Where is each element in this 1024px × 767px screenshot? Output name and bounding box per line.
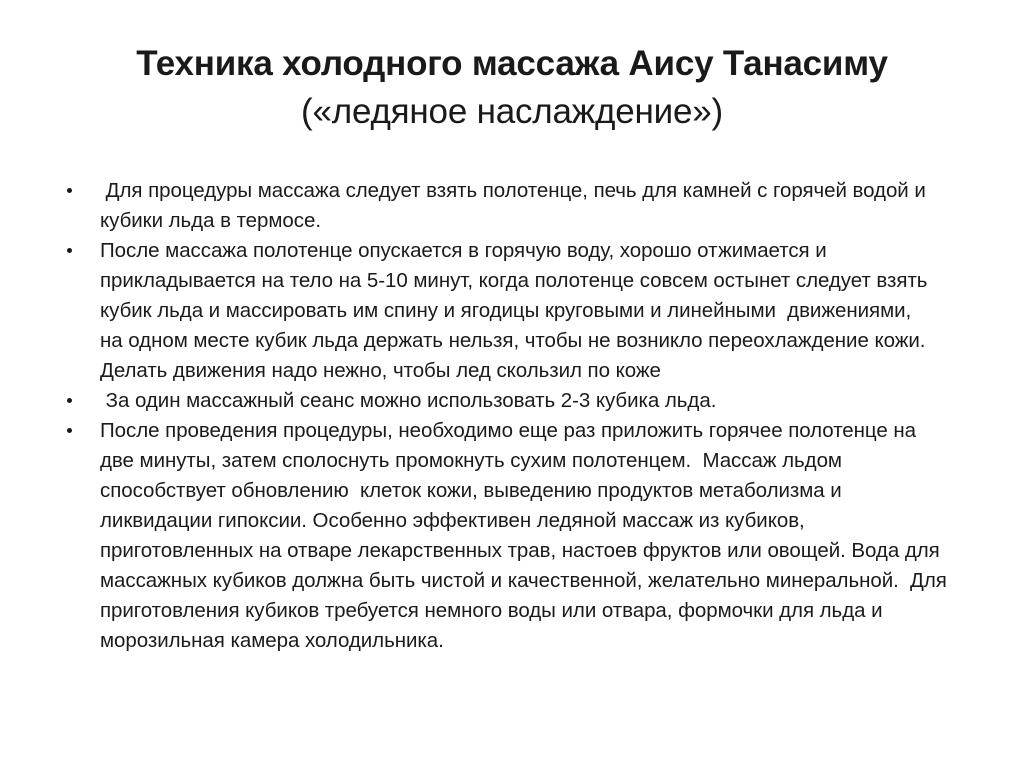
bullet-point-icon xyxy=(62,176,76,206)
bullet-text-line: После проведения процедуры, необходимо е… xyxy=(100,416,957,446)
title-line-2: («ледяное наслаждение») xyxy=(62,88,962,136)
bullet-text-line: кубик льда и массировать им спину и ягод… xyxy=(100,296,957,326)
bullet-point-icon xyxy=(62,386,76,416)
bullet-text-line: две минуты, затем сполоснуть промокнуть … xyxy=(100,446,957,476)
bullet-text-line: прикладывается на тело на 5-10 минут, ко… xyxy=(100,266,957,296)
bullet-text-line: За один массажный сеанс можно использова… xyxy=(100,386,957,416)
bullet-list: Для процедуры массажа следует взять поло… xyxy=(52,176,957,656)
bullet-text: После проведения процедуры, необходимо е… xyxy=(100,416,957,656)
bullet-item: После проведения процедуры, необходимо е… xyxy=(52,416,957,656)
bullet-text-line: Для процедуры массажа следует взять поло… xyxy=(100,176,957,206)
bullet-item: За один массажный сеанс можно использова… xyxy=(52,386,957,416)
bullet-text-line: Делать движения надо нежно, чтобы лед ск… xyxy=(100,356,957,386)
bullet-point-icon xyxy=(62,236,76,266)
bullet-text-line: После массажа полотенце опускается в гор… xyxy=(100,236,957,266)
bullet-text-line: ликвидации гипоксии. Особенно эффективен… xyxy=(100,506,957,536)
slide-canvas: Техника холодного массажа Аису Танасиму … xyxy=(0,0,1024,767)
bullet-text-line: приготовленных на отваре лекарственных т… xyxy=(100,536,957,566)
bullet-text-line: способствует обновлению клеток кожи, выв… xyxy=(100,476,957,506)
bullet-text-line: кубики льда в термосе. xyxy=(100,206,957,236)
bullet-item: После массажа полотенце опускается в гор… xyxy=(52,236,957,386)
bullet-text: За один массажный сеанс можно использова… xyxy=(100,386,957,416)
slide-title: Техника холодного массажа Аису Танасиму … xyxy=(62,40,962,136)
bullet-item: Для процедуры массажа следует взять поло… xyxy=(52,176,957,236)
bullet-text-line: массажных кубиков должна быть чистой и к… xyxy=(100,566,957,596)
bullet-text: Для процедуры массажа следует взять поло… xyxy=(100,176,957,236)
bullet-text: После массажа полотенце опускается в гор… xyxy=(100,236,957,386)
bullet-text-line: приготовления кубиков требуется немного … xyxy=(100,596,957,626)
bullet-text-line: морозильная камера холодильника. xyxy=(100,626,957,656)
title-line-1: Техника холодного массажа Аису Танасиму xyxy=(62,40,962,88)
bullet-text-line: на одном месте кубик льда держать нельзя… xyxy=(100,326,957,356)
bullet-point-icon xyxy=(62,416,76,446)
